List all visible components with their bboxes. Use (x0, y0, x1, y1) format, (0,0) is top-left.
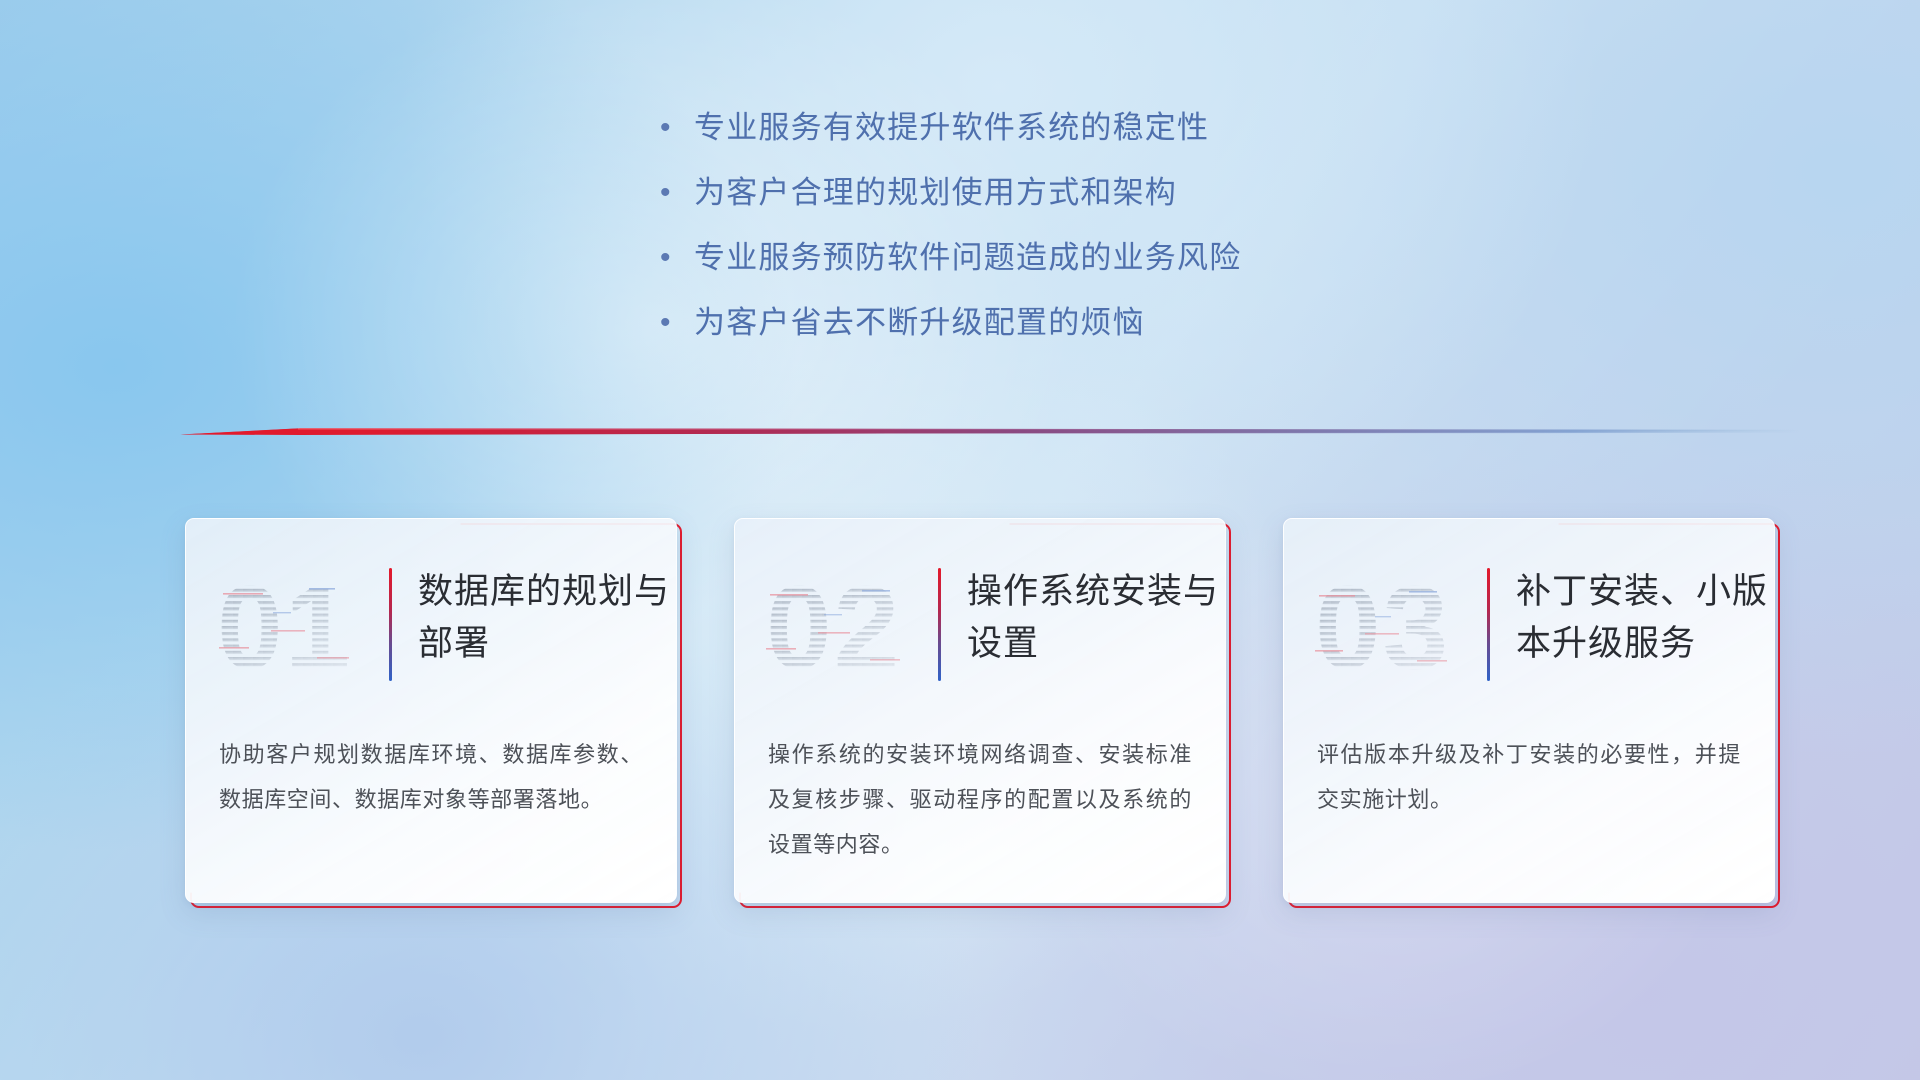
service-card[interactable]: 03 补丁安装、小版本升级服务 评估版本升级及补丁安装的必要性，并提交实施计划。 (1283, 518, 1775, 903)
bullet-text: 为客户合理的规划使用方式和架构 (694, 170, 1177, 216)
bullet-dot-icon: • (660, 105, 694, 151)
list-item: • 专业服务预防软件问题造成的业务风险 (660, 235, 1560, 300)
service-card[interactable]: 01 数据库的规划与部署 协助客户规划数据库环境、数据库参数、数据库空间、数据库… (185, 518, 677, 903)
card-title-rule (938, 568, 941, 681)
svg-text:03: 03 (1315, 564, 1450, 688)
card-title: 操作系统安装与设置 (967, 564, 1219, 670)
bullet-text: 专业服务预防软件问题造成的业务风险 (694, 235, 1241, 281)
bullet-dot-icon: • (660, 235, 694, 281)
section-divider (180, 420, 1800, 442)
card-title-rule (1487, 568, 1490, 681)
service-card-grid: 01 数据库的规划与部署 协助客户规划数据库环境、数据库参数、数据库空间、数据库… (185, 518, 1775, 903)
bullet-dot-icon: • (660, 170, 694, 216)
card-description: 协助客户规划数据库环境、数据库参数、数据库空间、数据库对象等部署落地。 (219, 732, 643, 822)
bullet-text: 专业服务有效提升软件系统的稳定性 (694, 105, 1209, 151)
bullet-dot-icon: • (660, 300, 694, 346)
svg-text:01: 01 (217, 564, 352, 688)
card-number-watermark: 03 (1311, 564, 1487, 688)
card-header: 01 数据库的规划与部署 (185, 564, 677, 690)
card-description: 评估版本升级及补丁安装的必要性，并提交实施计划。 (1317, 732, 1741, 822)
bullet-text: 为客户省去不断升级配置的烦恼 (694, 300, 1145, 346)
card-title: 补丁安装、小版本升级服务 (1516, 564, 1768, 670)
card-description: 操作系统的安装环境网络调查、安装标准及复核步骤、驱动程序的配置以及系统的设置等内… (768, 732, 1192, 867)
card-number-watermark: 02 (762, 564, 938, 688)
list-item: • 专业服务有效提升软件系统的稳定性 (660, 105, 1560, 170)
card-title: 数据库的规划与部署 (418, 564, 670, 670)
list-item: • 为客户省去不断升级配置的烦恼 (660, 300, 1560, 365)
card-number-watermark: 01 (213, 564, 389, 688)
card-title-rule (389, 568, 392, 681)
list-item: • 为客户合理的规划使用方式和架构 (660, 170, 1560, 235)
card-header: 02 操作系统安装与设置 (734, 564, 1226, 690)
service-card[interactable]: 02 操作系统安装与设置 操作系统的安装环境网络调查、安装标准及复核步骤、驱动程… (734, 518, 1226, 903)
svg-text:02: 02 (766, 564, 901, 688)
benefits-bullet-list: • 专业服务有效提升软件系统的稳定性 • 为客户合理的规划使用方式和架构 • 专… (660, 105, 1560, 365)
card-header: 03 补丁安装、小版本升级服务 (1283, 564, 1775, 690)
